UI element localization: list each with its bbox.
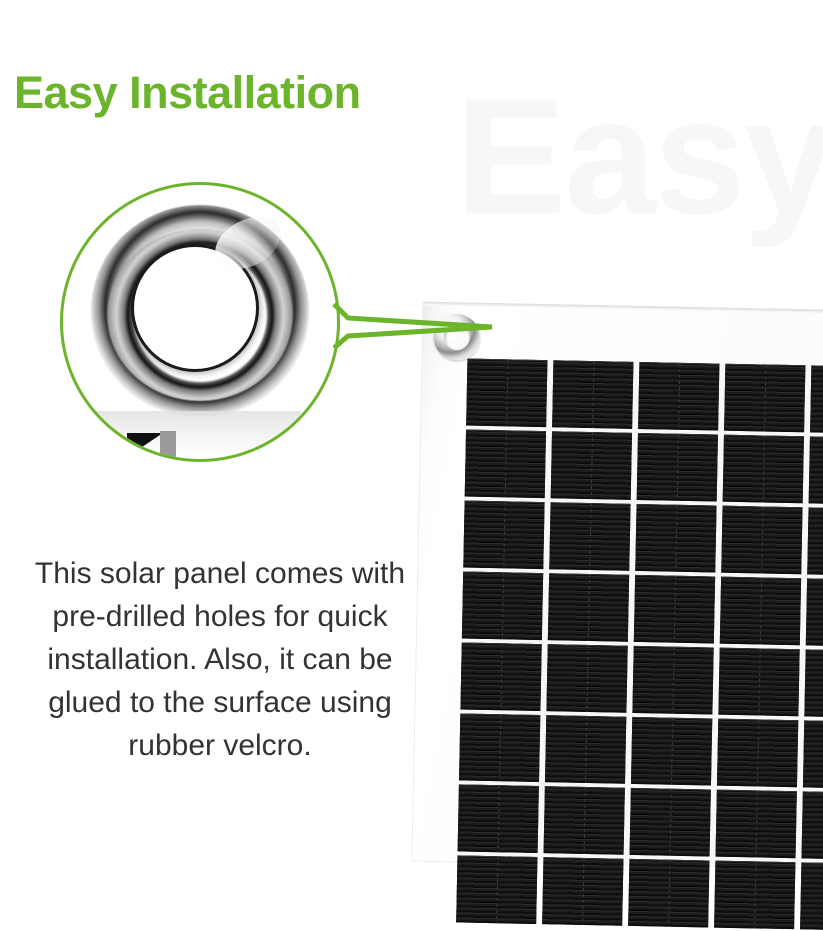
- feature-description: This solar panel comes with pre-drilled …: [18, 552, 422, 767]
- magnifier-callout: [60, 182, 340, 462]
- grommet-corner-wedge-dark: [127, 433, 163, 457]
- solar-cell: [551, 431, 632, 500]
- solar-cell: [542, 857, 623, 926]
- solar-cell: [628, 859, 709, 928]
- solar-cell: [552, 360, 633, 429]
- solar-cell: [465, 430, 546, 499]
- solar-cell: [548, 573, 629, 642]
- background-watermark-text: Easy: [456, 74, 823, 239]
- solar-cell: [806, 578, 823, 647]
- solar-cell: [723, 435, 804, 504]
- page-title: Easy Installation: [14, 68, 361, 118]
- solar-cell: [546, 644, 627, 713]
- solar-cell: [459, 713, 540, 782]
- panel-frame: [411, 302, 823, 871]
- solar-cell: [802, 791, 823, 860]
- solar-cell: [630, 788, 711, 857]
- solar-cell: [456, 855, 537, 924]
- solar-cell: [631, 717, 712, 786]
- solar-cell: [720, 577, 801, 646]
- solar-cell: [716, 790, 797, 859]
- solar-cell: [466, 359, 547, 428]
- magnifier-circle: [60, 182, 340, 462]
- solar-cell: [718, 648, 799, 717]
- panel-cell-grid: [457, 359, 823, 871]
- solar-cell: [810, 365, 823, 434]
- solar-cell: [637, 433, 718, 502]
- callout-pointer-icon: [332, 302, 502, 350]
- solar-cell: [635, 504, 716, 573]
- grommet-corner-wedge-grey: [160, 431, 176, 459]
- solar-cell: [549, 502, 630, 571]
- solar-cell: [462, 571, 543, 640]
- solar-cell: [638, 362, 719, 431]
- solar-cell: [460, 642, 541, 711]
- solar-cell: [458, 784, 539, 853]
- solar-cell: [463, 500, 544, 569]
- solar-cell: [545, 715, 626, 784]
- solar-cell: [544, 786, 625, 855]
- solar-cell: [807, 507, 823, 576]
- solar-cell: [632, 646, 713, 715]
- solar-cell: [714, 861, 795, 930]
- solar-cell: [804, 649, 823, 718]
- solar-cell: [809, 436, 823, 505]
- grommet-shadow-band: [81, 411, 301, 455]
- solar-cell: [721, 506, 802, 575]
- solar-panel-image: [411, 302, 823, 871]
- solar-cell: [634, 575, 715, 644]
- solar-cell: [717, 719, 798, 788]
- product-feature-slide: { "slide": { "headline": "Easy Installat…: [0, 0, 823, 823]
- solar-cell: [800, 862, 823, 931]
- solar-cell: [724, 364, 805, 433]
- solar-cell: [803, 720, 823, 789]
